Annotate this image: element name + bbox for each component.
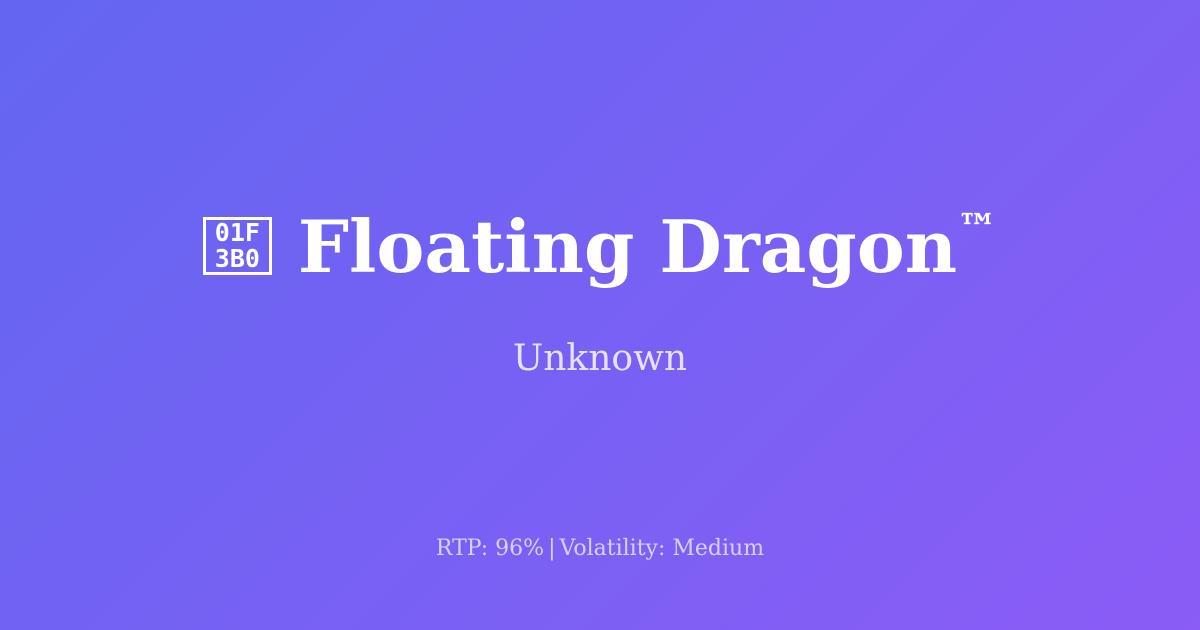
page-title-text: Floating Dragon: [298, 204, 957, 289]
slot-machine-icon-codepoint-high: 01F: [215, 220, 260, 246]
trademark-symbol: ™: [957, 205, 997, 252]
meta-separator: |: [544, 536, 559, 561]
page-title: Floating Dragon™: [298, 208, 997, 285]
game-meta-line: RTP: 96%|Volatility: Medium: [0, 536, 1200, 562]
slot-machine-icon: 01F 3B0: [203, 217, 272, 275]
page-subtitle: Unknown: [513, 337, 687, 380]
title-row: 01F 3B0 Floating Dragon™: [203, 208, 997, 285]
rtp-label: RTP: 96%: [436, 536, 544, 561]
volatility-label: Volatility: Medium: [560, 536, 765, 561]
slot-machine-icon-codepoint-low: 3B0: [215, 246, 260, 272]
hero-block: 01F 3B0 Floating Dragon™ Unknown: [0, 208, 1200, 380]
